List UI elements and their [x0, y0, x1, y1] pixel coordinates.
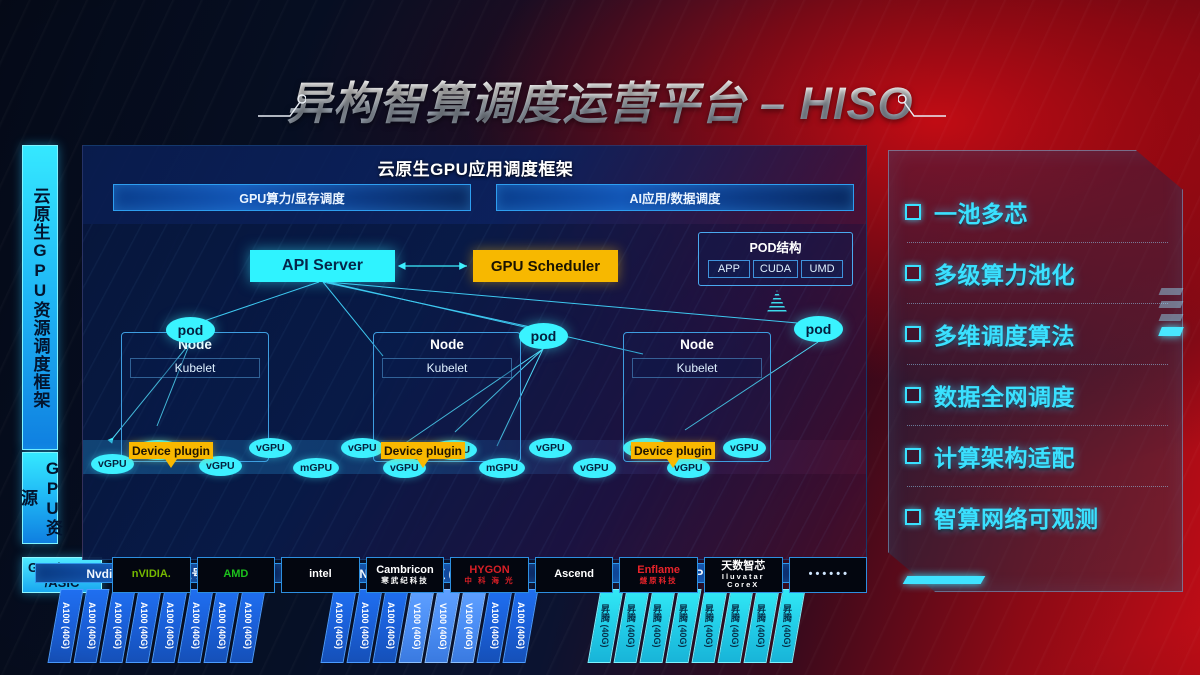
gpu-group-1-cards: A100 (40G)A100 (40G)A100 (40G)A100 (40G)… [54, 589, 259, 663]
architecture-diagram: 云原生GPU应用调度框架 GPU算力/显存调度 AI应用/数据调度 [22, 145, 867, 595]
gpu-card-label: 昇腾 (40G) [755, 604, 768, 648]
gpu-card-label: V100 (40G) [412, 603, 422, 650]
pod-structure-box: POD结构 APP CUDA UMD [698, 232, 853, 286]
feature-item-label: 多级算力池化 [934, 256, 1075, 290]
gpu-chip-vgpu-1-5[interactable]: vGPU [573, 458, 616, 478]
title-right-decoration-icon [898, 92, 946, 118]
gpu-scheduler-box[interactable]: GPU Scheduler [473, 250, 618, 282]
node-2-kubelet: Kubelet [382, 358, 512, 378]
framework-panel: 云原生GPU应用调度框架 GPU算力/显存调度 AI应用/数据调度 [82, 145, 867, 560]
feature-item-label: 计算架构适配 [934, 439, 1075, 473]
gpu-group-3-cards: 昇腾 (40G)昇腾 (40G)昇腾 (40G)昇腾 (40G)昇腾 (40G)… [594, 589, 799, 663]
framework-bar-ai[interactable]: AI应用/数据调度 [496, 184, 854, 211]
pod-cell-cuda: CUDA [753, 260, 798, 278]
vendor-logo-more[interactable]: • • • • • • [789, 557, 868, 593]
vendor-logo-intel[interactable]: intel [281, 557, 360, 593]
gpu-card-label: 昇腾 (40G) [651, 604, 664, 648]
gpu-card-label: 昇腾 (40G) [625, 604, 638, 648]
vendor-logo-iluvatar[interactable]: 天数智芯Iluvatar CoreX [704, 557, 783, 593]
feature-item-5[interactable]: 智算网络可观测 [905, 487, 1170, 547]
vendor-logo-label: 天数智芯Iluvatar CoreX [705, 561, 782, 588]
gpu-chip-mgpu-0-4[interactable]: mGPU [293, 458, 339, 478]
gpu-card-label: A100 (40G) [243, 602, 253, 649]
checkbox-icon [905, 509, 921, 525]
feature-item-label: 智算网络可观测 [934, 500, 1099, 534]
device-plugin-arrow-3 [667, 459, 679, 468]
checkbox-icon [905, 326, 921, 342]
checkbox-icon [905, 448, 921, 464]
gpu-card-label: 昇腾 (40G) [677, 604, 690, 648]
device-plugin-arrow-2 [417, 459, 429, 468]
gpu-card-label: A100 (40G) [87, 602, 97, 649]
pod-structure-cells: APP CUDA UMD [699, 260, 852, 278]
gpu-chip-vgpu-2-2[interactable]: vGPU [723, 438, 766, 458]
vendor-logo-label: Ascend [554, 569, 594, 581]
vendor-logo-sublabel: 中 科 海 光 [464, 577, 514, 585]
feature-item-label: 数据全网调度 [934, 378, 1075, 412]
device-plugin-2[interactable]: Device plugin [381, 442, 465, 459]
checkbox-icon [905, 387, 921, 403]
node-3-kubelet: Kubelet [632, 358, 762, 378]
device-plugin-arrow-1 [165, 459, 177, 468]
gpu-card-label: A100 (40G) [516, 602, 526, 649]
gpu-card-label: V100 (40G) [438, 603, 448, 650]
pod-1[interactable]: pod [166, 317, 215, 343]
vendor-logo-nvidia[interactable]: nVIDIA. [112, 557, 191, 593]
pod-structure-title: POD结构 [699, 237, 852, 256]
vendor-logo-label: nVIDIA. [132, 569, 171, 581]
feature-item-2[interactable]: 多维调度算法 [905, 304, 1170, 364]
gpu-card-label: 昇腾 (40G) [703, 604, 716, 648]
feature-panel-corner-icon [903, 576, 986, 584]
feature-item-4[interactable]: 计算架构适配 [905, 426, 1170, 486]
gpu-card-label: 昇腾 (40G) [781, 604, 794, 648]
gpu-card-label: A100 (40G) [334, 602, 344, 649]
feature-item-1[interactable]: 多级算力池化 [905, 243, 1170, 303]
pod-stack-icon [767, 290, 787, 312]
pod-3[interactable]: pod [794, 316, 843, 342]
gpu-group-2-cards: A100 (40G)A100 (40G)A100 (40G)V100 (40G)… [327, 589, 532, 663]
vendor-logo-ascend[interactable]: Ascend [535, 557, 614, 593]
gpu-card-label: V100 (40G) [464, 603, 474, 650]
gpu-card-label: A100 (40G) [113, 602, 123, 649]
vendor-logo-label: HYGON中 科 海 光 [464, 565, 514, 584]
pod-2[interactable]: pod [519, 323, 568, 349]
framework-title: 云原生GPU应用调度框架 [83, 155, 867, 180]
pod-cell-app: APP [708, 260, 750, 278]
vendor-logo-label: • • • • • • [809, 569, 847, 581]
gpu-card-label: A100 (40G) [191, 602, 201, 649]
vendor-logo-label: Cambricon寒武纪科技 [376, 565, 433, 584]
title-left-decoration-icon [258, 92, 306, 118]
gpu-chip-mgpu-1-3[interactable]: mGPU [479, 458, 525, 478]
api-server-box[interactable]: API Server [250, 250, 395, 282]
gpu-card-label: A100 (40G) [217, 602, 227, 649]
feature-list: 一池多芯多级算力池化多维调度算法数据全网调度计算架构适配智算网络可观测 [905, 182, 1170, 547]
title-bar: 异构智算调度运营平台 – HISO [0, 64, 1200, 134]
node-3-label: Node [624, 337, 770, 352]
gpu-card-label: 昇腾 (40G) [729, 604, 742, 648]
device-plugin-3[interactable]: Device plugin [631, 442, 715, 459]
checkbox-icon [905, 204, 921, 220]
device-plugin-1[interactable]: Device plugin [129, 442, 213, 459]
gpu-chip-vgpu-0-3[interactable]: vGPU [249, 438, 292, 458]
vendor-logo-hygon[interactable]: HYGON中 科 海 光 [450, 557, 529, 593]
vendor-logo-enflame[interactable]: Enflame燧原科技 [619, 557, 698, 593]
page-title: 异构智算调度运营平台 – HISO [286, 67, 913, 132]
vendor-logo-label: Enflame燧原科技 [637, 565, 680, 584]
framework-bar-compute[interactable]: GPU算力/显存调度 [113, 184, 471, 211]
gpu-card-label: A100 (40G) [61, 602, 71, 649]
gpu-card-label: A100 (40G) [360, 602, 370, 649]
gpu-card-label: 昇腾 (40G) [599, 604, 612, 648]
gpu-card-label: A100 (40G) [490, 602, 500, 649]
node-2-label: Node [374, 337, 520, 352]
gpu-card-label: A100 (40G) [139, 602, 149, 649]
feature-item-0[interactable]: 一池多芯 [905, 182, 1170, 242]
vendor-logo-amd[interactable]: AMD [197, 557, 276, 593]
gpu-card-label: A100 (40G) [386, 602, 396, 649]
feature-item-label: 多维调度算法 [934, 317, 1075, 351]
feature-item-3[interactable]: 数据全网调度 [905, 365, 1170, 425]
checkbox-icon [905, 265, 921, 281]
gpu-chip-vgpu-1-0[interactable]: vGPU [341, 438, 384, 458]
gpu-chip-vgpu-0-0[interactable]: vGPU [91, 454, 134, 474]
vendor-logo-sublabel: 燧原科技 [637, 577, 680, 585]
pod-cell-umd: UMD [801, 260, 843, 278]
framework-header: 云原生GPU应用调度框架 GPU算力/显存调度 AI应用/数据调度 [83, 146, 867, 224]
gpu-chip-vgpu-0-2[interactable]: vGPU [199, 456, 242, 476]
vendor-logo-cambricon[interactable]: Cambricon寒武纪科技 [366, 557, 445, 593]
vendor-logo-sublabel: Iluvatar CoreX [705, 573, 782, 589]
vendor-logo-row: nVIDIA.AMDintelCambricon寒武纪科技HYGON中 科 海 … [112, 557, 867, 593]
vendor-logo-label: intel [309, 569, 332, 581]
node-1-kubelet: Kubelet [130, 358, 260, 378]
scheduling-zone: API Server GPU Scheduler POD结构 APP CUDA … [83, 224, 867, 489]
gpu-card-label: A100 (40G) [165, 602, 175, 649]
vendor-logo-label: AMD [223, 569, 248, 581]
feature-item-label: 一池多芯 [934, 195, 1028, 229]
vendor-logo-sublabel: 寒武纪科技 [376, 577, 433, 585]
gpu-chip-vgpu-1-4[interactable]: vGPU [529, 438, 572, 458]
